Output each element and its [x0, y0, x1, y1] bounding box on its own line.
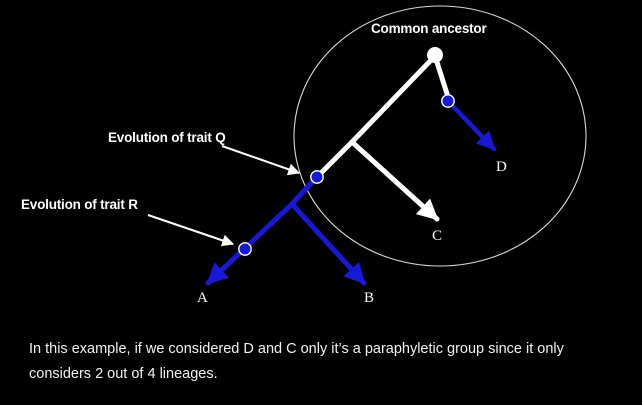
taxon-label-B: B: [364, 290, 374, 307]
trait-r-annotation-label: Evolution of trait R: [21, 197, 138, 212]
trait-d-node: [442, 95, 454, 107]
common-ancestor-label: Common ancestor: [371, 21, 487, 36]
trait-r-node: [239, 243, 251, 255]
taxon-label-A: A: [197, 290, 208, 307]
figure-caption: In this example, if we considered D and …: [29, 337, 619, 387]
branch-to-taxon-C: [352, 142, 437, 219]
taxon-label-C: C: [432, 228, 442, 245]
figure-canvas: Common ancestor Evolution of trait Q Evo…: [0, 0, 642, 405]
common-ancestor-circle: [294, 6, 586, 266]
branch-to-taxon-A: [208, 204, 292, 283]
trait-q-node: [311, 171, 323, 183]
common-ancestor-node: [428, 48, 443, 63]
branch-to-taxon-B: [292, 204, 364, 283]
branch-left-internal-to-trait-q: [318, 142, 352, 176]
branch-to-taxon-D: [448, 101, 494, 149]
trait-q-annotation-label: Evolution of trait Q: [108, 130, 226, 145]
trait-q-leader-arrow: [222, 146, 299, 173]
taxon-label-D: D: [496, 159, 507, 176]
branch-root-to-left-internal: [352, 56, 435, 142]
trait-r-leader-arrow: [148, 215, 233, 244]
